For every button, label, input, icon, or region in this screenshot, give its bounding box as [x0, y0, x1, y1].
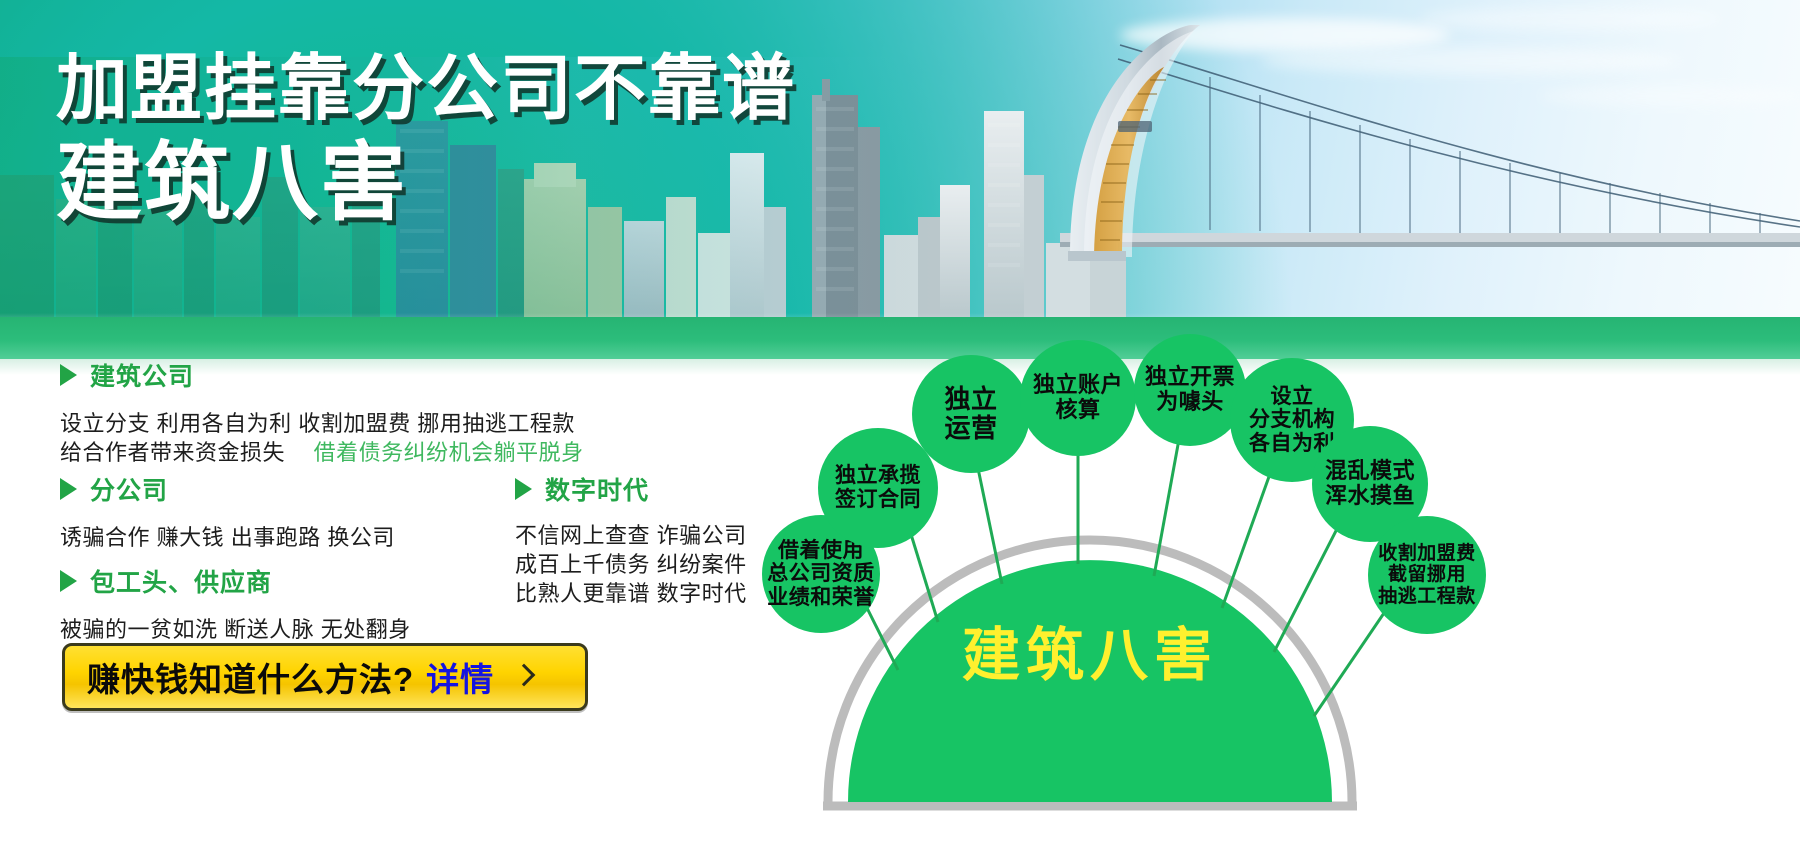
cta-label: 赚快钱知道什么方法?: [87, 653, 414, 701]
section-heading: 数字时代: [515, 471, 747, 507]
headline-line-1: 加盟挂靠分公司不靠谱: [56, 52, 796, 127]
section-body: 设立分支 利用各自为利 收割加盟费 挪用抽逃工程款 给合作者带来资金损失 借着债…: [60, 409, 584, 467]
body-line: 不信网上查查 诈骗公司: [515, 521, 747, 550]
bubble-2[interactable]: 独立承揽 签订合同: [818, 428, 938, 548]
section-contractor-supplier: 包工头、供应商 被骗的一贫如洗 断送人脉 无处翻身: [60, 563, 411, 644]
left-content: 建筑公司 设立分支 利用各自为利 收割加盟费 挪用抽逃工程款 给合作者带来资金损…: [0, 375, 790, 844]
section-construction-company: 建筑公司 设立分支 利用各自为利 收割加盟费 挪用抽逃工程款 给合作者带来资金损…: [60, 357, 584, 467]
body-line: 被骗的一贫如洗 断送人脉 无处翻身: [60, 615, 411, 644]
body-line: 诱骗合作 赚大钱 出事跑路 换公司: [60, 523, 395, 552]
chevron-right-icon: [514, 666, 536, 688]
bubble-text: 独立开票 为噱头: [1145, 365, 1235, 414]
bubble-text: 设立 分支机构 各自为利: [1249, 385, 1335, 456]
bubble-5[interactable]: 独立开票 为噱头: [1134, 334, 1246, 446]
hero-banner: 加盟挂靠分公司不靠谱 建筑八害: [0, 0, 1800, 375]
section-title: 数字时代: [545, 471, 649, 507]
eight-harms-diagram: 借着使用 总公司资质 业绩和荣誉 独立承揽 签订合同 独立 运营 独立账户 核算: [790, 340, 1800, 844]
dome-title: 建筑八害: [960, 608, 1220, 692]
triangle-right-icon: [515, 478, 532, 500]
bubble-text: 独立 运营: [944, 385, 997, 443]
bubble-text: 借着使用 总公司资质 业绩和荣誉: [767, 539, 875, 610]
cta-link-label[interactable]: 详情: [426, 653, 494, 701]
section-title: 建筑公司: [90, 357, 194, 393]
section-heading: 分公司: [60, 471, 395, 507]
section-body: 诱骗合作 赚大钱 出事跑路 换公司: [60, 523, 395, 552]
headline-line-2: 建筑八害: [56, 139, 796, 228]
body-line: 设立分支 利用各自为利 收割加盟费 挪用抽逃工程款: [60, 409, 584, 438]
section-digital-era: 数字时代 不信网上查查 诈骗公司 成百上千债务 纠纷案件 比熟人更靠谱 数字时代: [515, 471, 747, 608]
bubble-text: 混乱模式 浑水摸鱼: [1325, 459, 1415, 508]
section-heading: 包工头、供应商: [60, 563, 411, 599]
section-body: 被骗的一贫如洗 断送人脉 无处翻身: [60, 615, 411, 644]
body-line: 成百上千债务 纠纷案件: [515, 550, 747, 579]
triangle-right-icon: [60, 570, 77, 592]
body-line-mixed: 给合作者带来资金损失 借着债务纠纷机会躺平脱身: [60, 438, 584, 467]
section-body: 不信网上查查 诈骗公司 成百上千债务 纠纷案件 比熟人更靠谱 数字时代: [515, 521, 747, 608]
section-title: 包工头、供应商: [90, 563, 272, 599]
bubble-8[interactable]: 收割加盟费 截留挪用 抽逃工程款: [1368, 516, 1486, 634]
bubble-text: 独立账户 核算: [1033, 373, 1123, 422]
section-title: 分公司: [90, 471, 168, 507]
body-line: 比熟人更靠谱 数字时代: [515, 579, 747, 608]
bubble-text: 收割加盟费 截留挪用 抽逃工程款: [1378, 543, 1476, 607]
triangle-right-icon: [60, 478, 77, 500]
section-heading: 建筑公司: [60, 357, 584, 393]
liede-bridge: [1060, 25, 1800, 325]
body-text-plain: 给合作者带来资金损失: [60, 440, 285, 465]
poster-root: 加盟挂靠分公司不靠谱 建筑八害 建筑公司 设立分支 利用各自为利 收割加盟费 挪…: [0, 0, 1800, 844]
bubble-text: 独立承揽 签订合同: [835, 464, 921, 511]
body-text-highlight: 借着债务纠纷机会躺平脱身: [314, 440, 584, 465]
hero-headline: 加盟挂靠分公司不靠谱 建筑八害: [56, 52, 796, 228]
section-branch-company: 分公司 诱骗合作 赚大钱 出事跑路 换公司: [60, 471, 395, 552]
bubble-4[interactable]: 独立账户 核算: [1020, 340, 1136, 456]
bubble-3[interactable]: 独立 运营: [912, 355, 1030, 473]
triangle-right-icon: [60, 364, 77, 386]
cta-button[interactable]: 赚快钱知道什么方法? 详情: [62, 643, 588, 711]
